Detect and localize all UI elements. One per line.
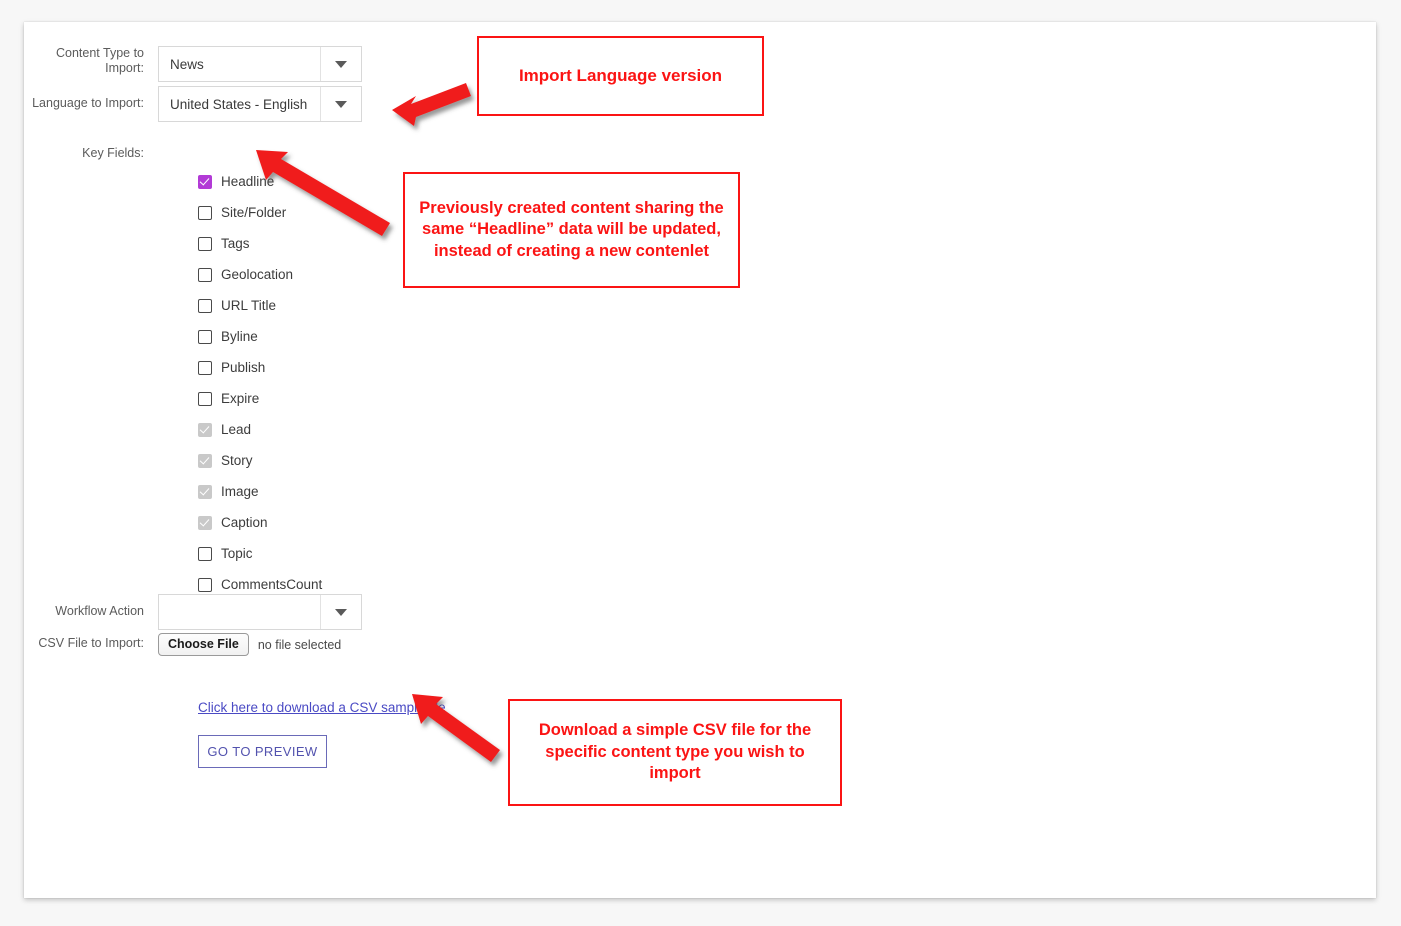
arrow-to-language-select: [392, 83, 471, 126]
annotation-arrows: [0, 0, 1401, 926]
arrow-to-headline-checkbox: [256, 150, 390, 236]
page-root: Content Type to Import: News Language to…: [0, 0, 1401, 926]
arrow-to-csv-sample-link: [412, 694, 500, 762]
